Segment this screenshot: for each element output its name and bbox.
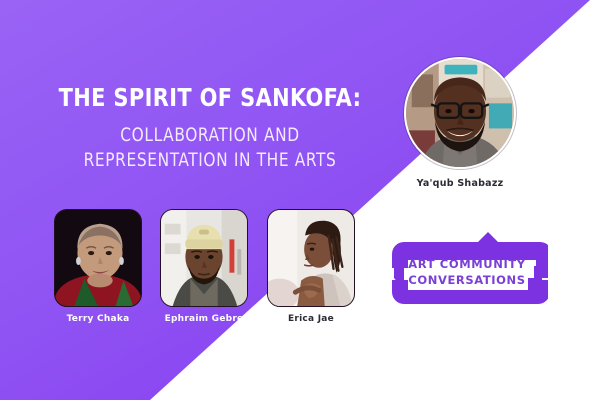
page-title: THE SPIRIT OF SANKOFA: bbox=[15, 84, 406, 112]
speaker-name-ephraim-gebre: Ephraim Gebre bbox=[160, 314, 248, 324]
speaker-name-terry-chaka: Terry Chaka bbox=[54, 314, 142, 324]
headline-subtitle: COLLABORATION AND REPRESENTATION IN THE … bbox=[21, 123, 399, 172]
brand-logo-art-community-conversations[interactable]: ART COMMUNITY CONVERSATIONS bbox=[386, 232, 548, 314]
headline-subtitle-line-2: REPRESENTATION IN THE ARTS bbox=[21, 148, 399, 173]
speaker-name-erica-jae: Erica Jae bbox=[267, 314, 355, 324]
speaker-photo-ephraim-gebre bbox=[160, 209, 248, 307]
speech-bubble-bracket-icon bbox=[386, 232, 548, 314]
host-photo-yaqub-shabazz bbox=[404, 57, 516, 169]
headline-subtitle-line-1: COLLABORATION AND bbox=[21, 123, 399, 148]
headline-block: THE SPIRIT OF SANKOFA: COLLABORATION AND… bbox=[0, 84, 420, 172]
host-card[interactable]: Ya'qub Shabazz bbox=[404, 57, 516, 189]
host-name-yaqub-shabazz: Ya'qub Shabazz bbox=[404, 178, 516, 189]
speaker-card-ephraim-gebre[interactable]: Ephraim Gebre bbox=[160, 209, 248, 324]
speaker-card-erica-jae[interactable]: Erica Jae bbox=[267, 209, 355, 324]
speaker-photo-erica-jae bbox=[267, 209, 355, 307]
speaker-photo-terry-chaka bbox=[54, 209, 142, 307]
speaker-card-terry-chaka[interactable]: Terry Chaka bbox=[54, 209, 142, 324]
event-promo-poster: THE SPIRIT OF SANKOFA: COLLABORATION AND… bbox=[0, 0, 600, 400]
